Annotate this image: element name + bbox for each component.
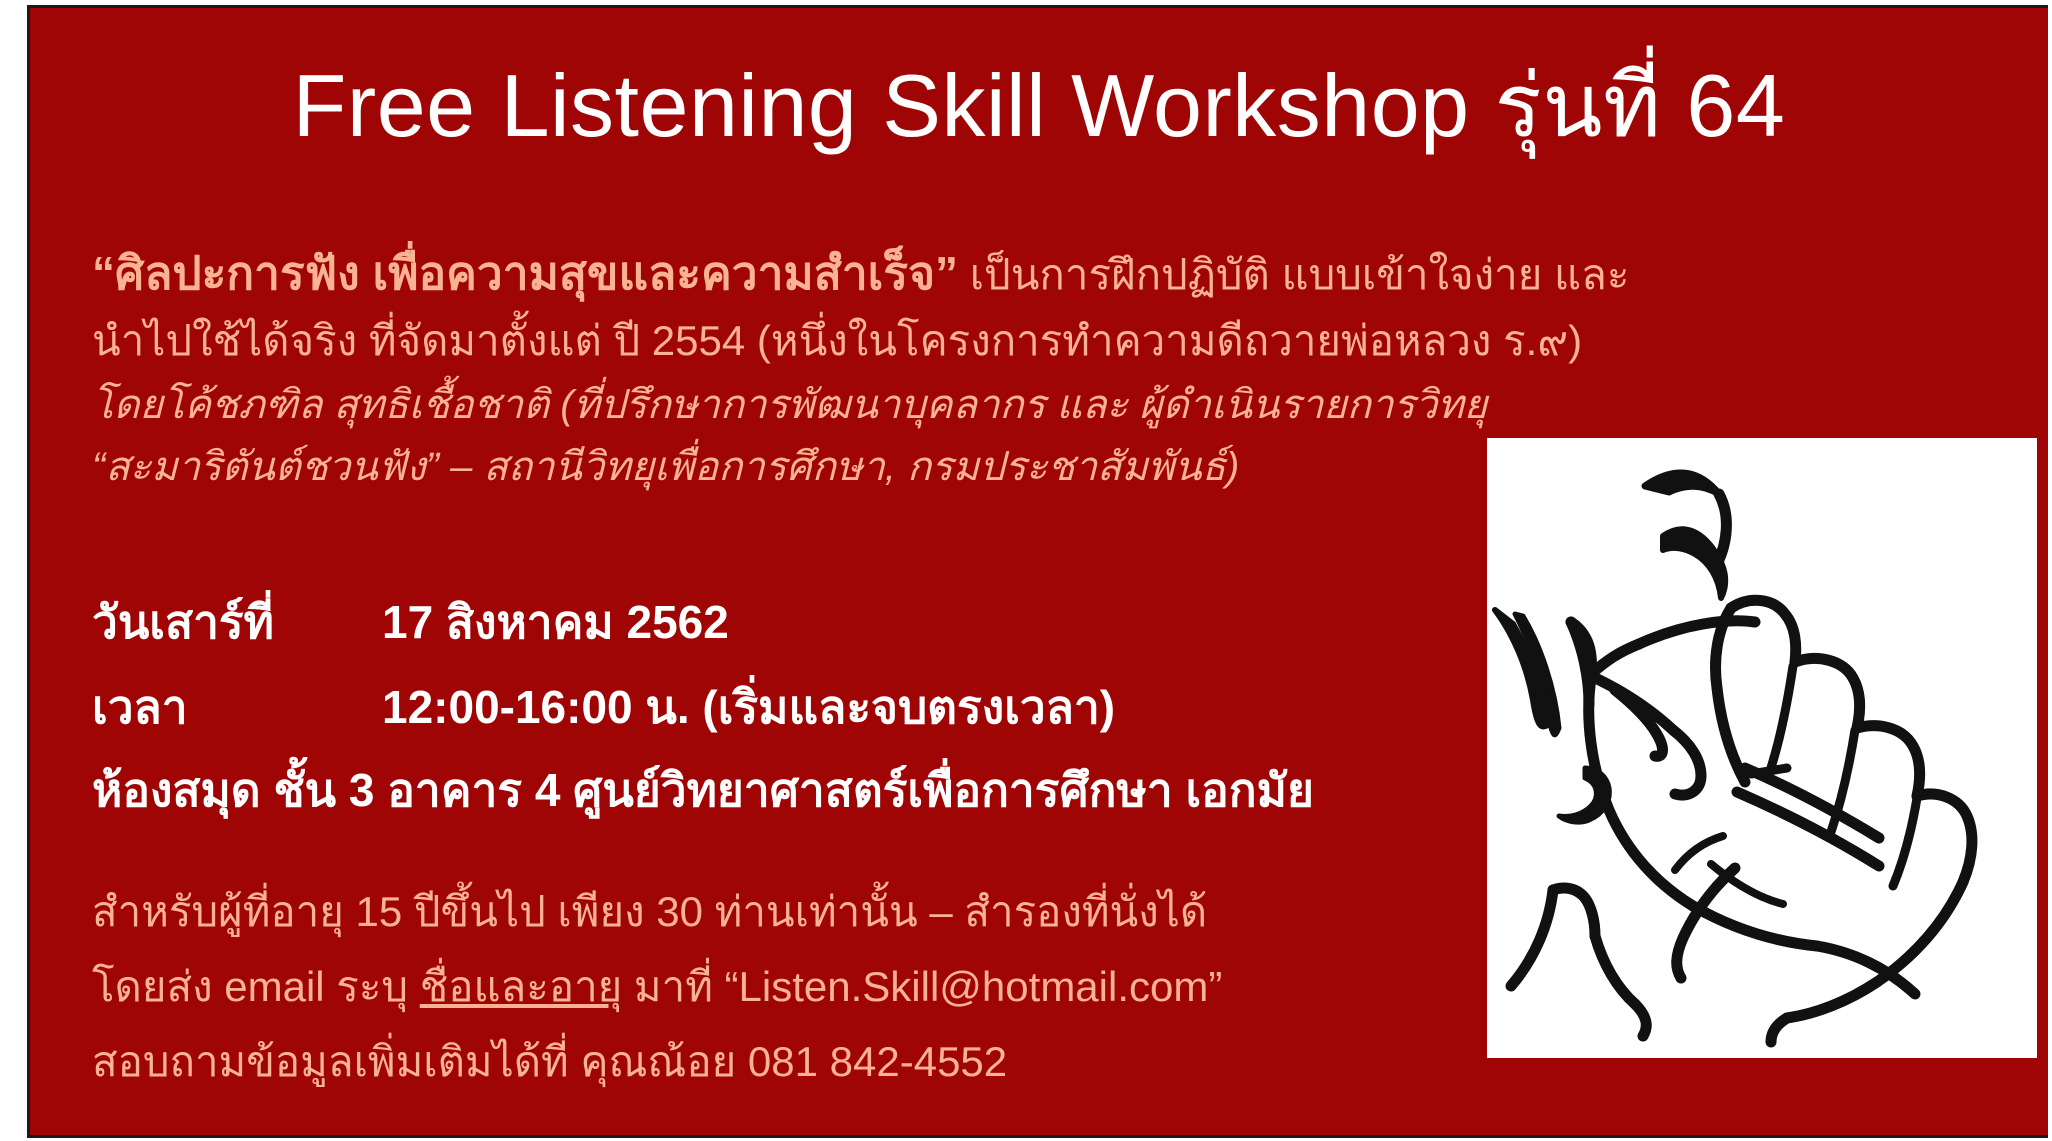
phone-line: สอบถามข้อมูลเพิ่มเติมได้ที่ คุณณ้อย 081 … bbox=[92, 1024, 1492, 1099]
email-middle: มาที่ “ bbox=[622, 963, 738, 1010]
time-label: เวลา bbox=[92, 665, 382, 750]
date-label: วันเสาร์ที่ bbox=[92, 580, 382, 665]
workshop-quote-tail: เป็นการฝึกปฏิบัติ แบบเข้าใจง่าย และ bbox=[958, 251, 1629, 298]
detail-row: เวลา 12:00-16:00 น. (เริ่มและจบตรงเวลา) bbox=[92, 665, 1492, 750]
email-address[interactable]: Listen.Skill@hotmail.com bbox=[739, 963, 1209, 1010]
email-prefix: โดยส่ง email ระบุ bbox=[92, 963, 420, 1010]
intro-paragraph: “ศิลปะการฟัง เพื่อความสุขและความสำเร็จ” … bbox=[92, 240, 1522, 498]
contact-info: สำหรับผู้ที่อายุ 15 ปีขึ้นไป เพียง 30 ท่… bbox=[92, 874, 1492, 1099]
radio-program-line: “สะมาริตันต์ชวนฟัง” – สถานีวิทยุเพื่อการ… bbox=[92, 436, 1522, 498]
email-line: โดยส่ง email ระบุ ชื่อและอายุ มาที่ “Lis… bbox=[92, 949, 1492, 1024]
poster-panel: Free Listening Skill Workshop รุ่นที่ 64… bbox=[27, 5, 2048, 1138]
intro-line-2: นำไปใช้ได้จริง ที่จัดมาตั้งแต่ ปี 2554 (… bbox=[92, 308, 1522, 374]
email-emphasis: ชื่อและอายุ bbox=[420, 963, 623, 1010]
workshop-quote: “ศิลปะการฟัง เพื่อความสุขและความสำเร็จ” bbox=[92, 247, 958, 299]
intro-line-1: “ศิลปะการฟัง เพื่อความสุขและความสำเร็จ” … bbox=[92, 240, 1522, 308]
time-value: 12:00-16:00 น. (เริ่มและจบตรงเวลา) bbox=[382, 665, 1115, 750]
venue-value: ห้องสมุด ชั้น 3 อาคาร 4 ศูนย์วิทยาศาสตร์… bbox=[92, 750, 1492, 830]
detail-row: วันเสาร์ที่ 17 สิงหาคม 2562 bbox=[92, 580, 1492, 665]
poster-page: Free Listening Skill Workshop รุ่นที่ 64… bbox=[0, 0, 2052, 1141]
listening-hand-icon bbox=[1487, 438, 2037, 1058]
email-suffix: ” bbox=[1208, 963, 1222, 1010]
eligibility-line: สำหรับผู้ที่อายุ 15 ปีขึ้นไป เพียง 30 ท่… bbox=[92, 874, 1492, 949]
instructor-line: โดยโค้ชภฑิล สุทธิเชื้อชาติ (ที่ปรึกษาการ… bbox=[92, 374, 1522, 436]
date-value: 17 สิงหาคม 2562 bbox=[382, 580, 729, 665]
event-details: วันเสาร์ที่ 17 สิงหาคม 2562 เวลา 12:00-1… bbox=[92, 580, 1492, 830]
page-title: Free Listening Skill Workshop รุ่นที่ 64 bbox=[30, 60, 2048, 152]
hand-cupped-behind-ear-illustration bbox=[1487, 438, 2037, 1058]
